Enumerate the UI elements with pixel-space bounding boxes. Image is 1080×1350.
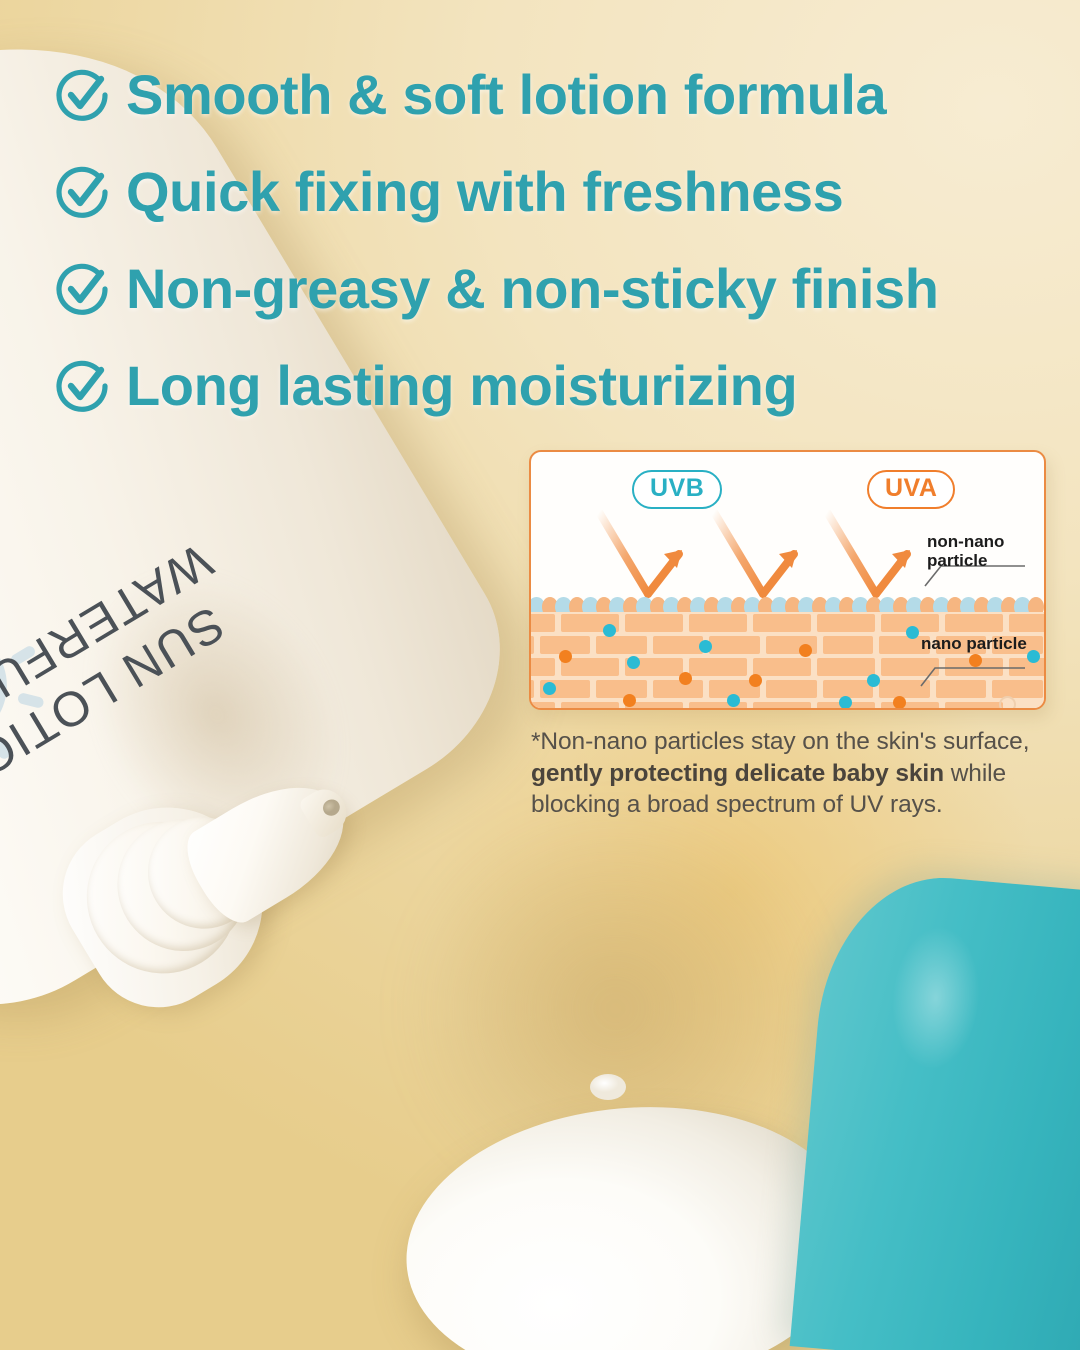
caption-middle: while xyxy=(944,760,1006,787)
check-circle-icon xyxy=(56,359,110,413)
uva-badge: UVA xyxy=(867,470,955,509)
uv-ray-1 xyxy=(599,512,682,594)
list-item-label: Smooth & soft lotion formula xyxy=(126,67,886,123)
nano-particle xyxy=(727,694,740,707)
nano-particle xyxy=(969,654,982,667)
nano-particle xyxy=(749,674,762,687)
nano-particle xyxy=(627,656,640,669)
list-item-label: Quick fixing with freshness xyxy=(126,164,843,220)
nano-particle xyxy=(893,696,906,708)
caption-suffix: blocking a broad spectrum of UV rays. xyxy=(531,791,943,818)
nano-particle xyxy=(699,640,712,653)
list-item: Non-greasy & non-sticky finish xyxy=(56,240,1056,337)
list-item: Long lasting moisturizing xyxy=(56,337,1056,434)
nano-particle xyxy=(623,694,636,707)
nano-particle xyxy=(867,674,880,687)
list-item: Smooth & soft lotion formula xyxy=(56,46,1056,143)
nano-particle xyxy=(839,696,852,708)
nano-particle xyxy=(679,672,692,685)
caption-prefix: *Non-nano particles stay on the skin's s… xyxy=(531,728,1029,755)
non-nano-particle-callout: non-nano particle xyxy=(927,532,1004,570)
uv-ray-2 xyxy=(714,512,797,594)
nano-particle xyxy=(543,682,556,695)
nano-particle xyxy=(559,650,572,663)
uv-protection-diagram: UVB UVA xyxy=(529,450,1046,710)
nano-particle-outline xyxy=(999,696,1016,708)
nano-particle xyxy=(799,644,812,657)
product-marketing-image: SUN LOTION WATERFUL Smooth & soft lotion… xyxy=(0,0,1080,1350)
list-item-label: Non-greasy & non-sticky finish xyxy=(126,261,939,317)
check-circle-icon xyxy=(56,68,110,122)
list-item-label: Long lasting moisturizing xyxy=(126,358,797,414)
check-circle-icon xyxy=(56,262,110,316)
caption-bold: gently protecting delicate baby skin xyxy=(531,760,944,787)
uvb-badge: UVB xyxy=(632,470,722,509)
nano-particle xyxy=(906,626,919,639)
list-item: Quick fixing with freshness xyxy=(56,143,1056,240)
check-circle-icon xyxy=(56,165,110,219)
non-nano-callout-line-2: particle xyxy=(927,551,1004,570)
nano-particle-callout: nano particle xyxy=(921,634,1027,653)
nano-particle xyxy=(603,624,616,637)
non-nano-callout-line-1: non-nano xyxy=(927,532,1004,551)
lotion-droplet xyxy=(590,1074,626,1100)
uv-ray-3 xyxy=(827,512,910,594)
diagram-caption: *Non-nano particles stay on the skin's s… xyxy=(531,726,1031,821)
nano-particle xyxy=(1027,650,1040,663)
feature-list: Smooth & soft lotion formula Quick fixin… xyxy=(56,46,1056,434)
skin-brick-layer xyxy=(531,612,1044,708)
